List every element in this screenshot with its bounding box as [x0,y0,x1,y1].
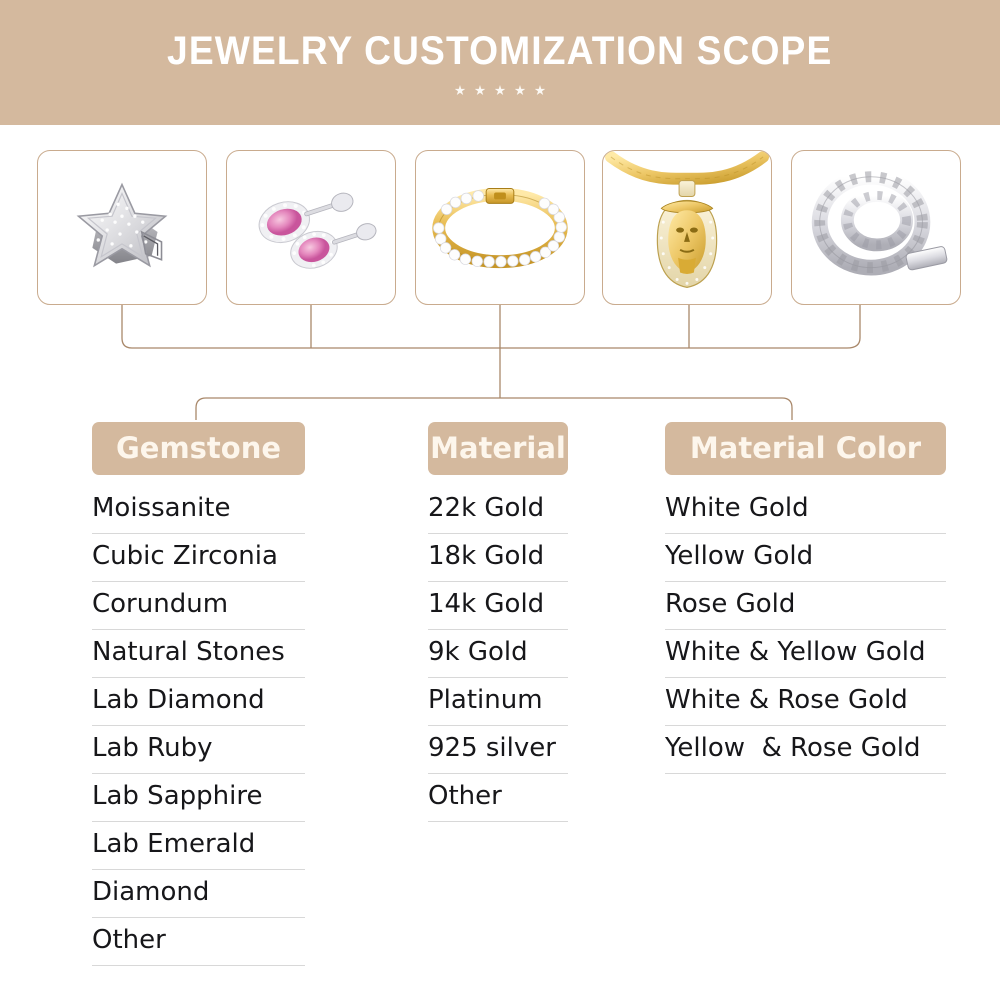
star-divider [455,85,546,96]
list-item[interactable]: Lab Diamond [92,678,305,726]
list-item[interactable]: 22k Gold [428,486,568,534]
product-card-cuban-chain[interactable] [791,150,961,305]
list-item[interactable]: White & Rose Gold [665,678,946,726]
list-item[interactable]: Diamond [92,870,305,918]
list-item[interactable]: Natural Stones [92,630,305,678]
tennis-bracelet-icon [416,151,584,304]
product-card-jesus-pendant[interactable] [602,150,772,305]
stud-earrings-icon [227,151,395,304]
option-list-material-color: White Gold Yellow Gold Rose Gold White &… [665,486,946,774]
star-icon [475,85,486,96]
page-title: JEWELRY CUSTOMIZATION SCOPE [167,29,832,74]
category-title-material: Material [428,422,568,475]
list-item[interactable]: Corundum [92,582,305,630]
category-title-material-color: Material Color [665,422,946,475]
list-item[interactable]: Moissanite [92,486,305,534]
list-item[interactable]: Platinum [428,678,568,726]
option-list-material: 22k Gold 18k Gold 14k Gold 9k Gold Plati… [428,486,568,822]
cuban-chain-icon [792,151,960,304]
list-item[interactable]: Yellow & Rose Gold [665,726,946,774]
list-item[interactable]: Lab Emerald [92,822,305,870]
product-card-star-ring[interactable] [37,150,207,305]
product-card-tennis-bracelet[interactable] [415,150,585,305]
option-list-gemstone: Moissanite Cubic Zirconia Corundum Natur… [92,486,305,966]
list-item[interactable]: Other [428,774,568,822]
header-banner: JEWELRY CUSTOMIZATION SCOPE [0,0,1000,125]
list-item[interactable]: 925 silver [428,726,568,774]
star-ring-icon [38,151,206,304]
category-column-material-color: Material Color White Gold Yellow Gold Ro… [665,422,946,774]
list-item[interactable]: 18k Gold [428,534,568,582]
category-column-material: Material 22k Gold 18k Gold 14k Gold 9k G… [428,422,568,822]
star-icon [455,85,466,96]
list-item[interactable]: 9k Gold [428,630,568,678]
list-item[interactable]: Yellow Gold [665,534,946,582]
list-item[interactable]: Other [92,918,305,966]
list-item[interactable]: Rose Gold [665,582,946,630]
list-item[interactable]: Cubic Zirconia [92,534,305,582]
category-column-gemstone: Gemstone Moissanite Cubic Zirconia Corun… [92,422,305,966]
list-item[interactable]: Lab Ruby [92,726,305,774]
list-item[interactable]: White Gold [665,486,946,534]
product-card-stud-earrings[interactable] [226,150,396,305]
star-icon [535,85,546,96]
list-item[interactable]: White & Yellow Gold [665,630,946,678]
star-icon [515,85,526,96]
category-title-gemstone: Gemstone [92,422,305,475]
list-item[interactable]: Lab Sapphire [92,774,305,822]
star-icon [495,85,506,96]
jesus-pendant-icon [603,151,771,304]
list-item[interactable]: 14k Gold [428,582,568,630]
